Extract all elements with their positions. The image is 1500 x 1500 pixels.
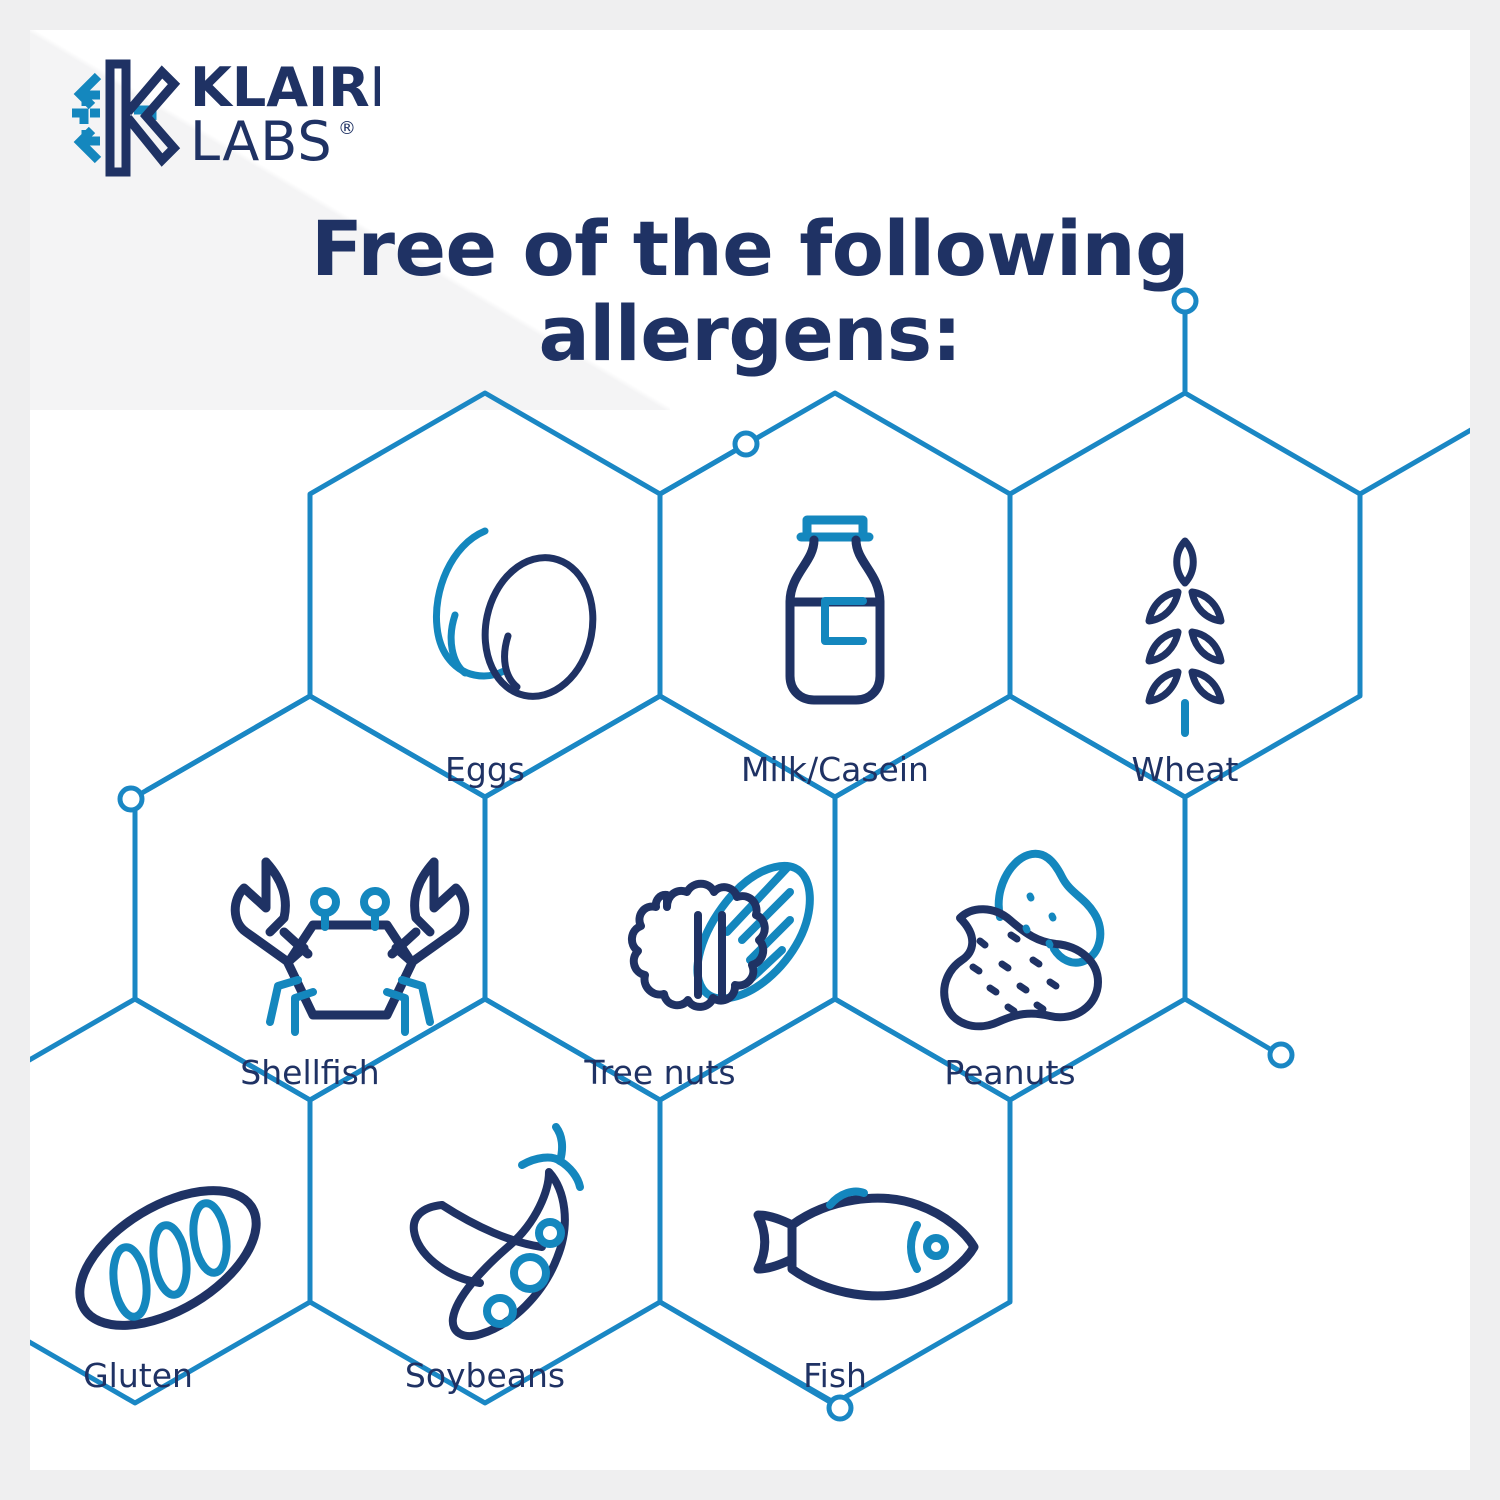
connector-node-bottom: [829, 1397, 851, 1419]
content-panel: KLAIRE LABS ® Free of the following alle…: [30, 30, 1470, 1470]
label-eggs: Eggs: [445, 750, 525, 789]
hexagon-edge-right-top: [1360, 393, 1470, 494]
connector-node-eggs-top-right: [735, 433, 757, 455]
label-fish: Fish: [803, 1356, 867, 1395]
label-tree-nuts: Tree nuts: [584, 1053, 735, 1092]
crab-icon: [235, 862, 465, 1032]
connector-nodes: [120, 290, 1292, 1419]
connector-node-wheat-top: [1174, 290, 1196, 312]
label-soybeans: Soybeans: [405, 1356, 565, 1395]
connector-node-left: [120, 788, 142, 810]
wheat-stalk-icon: [1149, 541, 1221, 733]
hexagon-eggs[interactable]: [310, 393, 660, 797]
label-wheat: Wheat: [1131, 750, 1238, 789]
eggs-icon: [436, 531, 605, 706]
allergen-infographic: KLAIRE LABS ® Free of the following alle…: [0, 0, 1500, 1500]
bread-loaf-icon: [57, 1163, 279, 1353]
label-peanuts: Peanuts: [944, 1053, 1075, 1092]
label-shellfish: Shellfish: [240, 1053, 379, 1092]
soybean-pods-icon: [414, 1127, 580, 1336]
label-milk-casein: Milk/Casein: [741, 750, 929, 789]
milk-bottle-icon: [790, 520, 880, 700]
label-gluten: Gluten: [83, 1356, 193, 1395]
peanut-shells-icon: [944, 854, 1100, 1027]
walnut-almond-icon: [632, 866, 810, 1007]
connector-node-peanuts-right: [1270, 1044, 1292, 1066]
hexagon-milk-casein[interactable]: [660, 393, 1010, 797]
connector-lines: [147, 312, 1270, 1402]
fish-icon: [758, 1192, 974, 1296]
